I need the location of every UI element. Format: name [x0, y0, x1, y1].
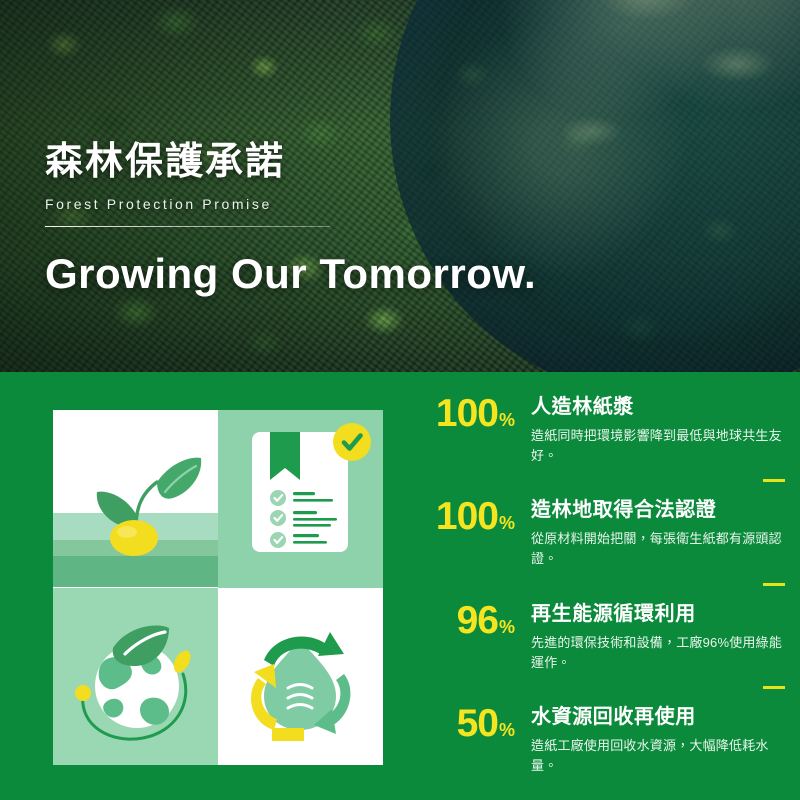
seedling-icon [53, 410, 218, 588]
stat-number-group: 100% [415, 392, 515, 433]
stat-unit: % [499, 617, 515, 637]
stat-description: 先進的環保技術和設備，工廠96%使用綠能運作。 [531, 633, 785, 673]
stat-row: 50% 水資源回收再使用 造紙工廠使用回收水資源，大幅降低耗水量。 [415, 702, 785, 776]
certificate-checklist-icon [218, 410, 383, 588]
stat-number-group: 50% [415, 702, 515, 743]
stat-description: 造紙工廠使用回收水資源，大幅降低耗水量。 [531, 736, 785, 776]
infographic-page: 森林保護承諾 Forest Protection Promise Growing… [0, 0, 800, 800]
stat-value: 100 [436, 392, 498, 435]
illustration-seedling [53, 410, 218, 588]
stat-row: 96% 再生能源循環利用 先進的環保技術和設備，工廠96%使用綠能運作。 [415, 599, 785, 673]
green-earth-icon [53, 588, 218, 766]
stat-row: 100% 造林地取得合法認證 從原材料開始把關，每張衛生紙都有源頭認證。 [415, 495, 785, 569]
stat-unit: % [499, 513, 515, 533]
stat-title: 水資源回收再使用 [531, 705, 785, 729]
stat-value: 100 [436, 495, 498, 538]
stat-separator [763, 686, 785, 689]
stat-text-group: 再生能源循環利用 先進的環保技術和設備，工廠96%使用綠能運作。 [515, 599, 785, 673]
stat-unit: % [499, 410, 515, 430]
water-recycle-icon [218, 588, 383, 766]
stat-separator [763, 479, 785, 482]
hero-headline: Growing Our Tomorrow. [45, 251, 536, 297]
hero-chinese-title: 森林保護承諾 [45, 140, 536, 185]
hero-english-subtitle: Forest Protection Promise [45, 196, 536, 212]
stat-text-group: 水資源回收再使用 造紙工廠使用回收水資源，大幅降低耗水量。 [515, 702, 785, 776]
stat-number-group: 96% [415, 599, 515, 640]
hero-banner: 森林保護承諾 Forest Protection Promise Growing… [0, 0, 800, 372]
green-content-panel: 100% 人造林紙漿 造紙同時把環境影響降到最低與地球共生友好。 100% 造林… [0, 372, 800, 800]
stats-list: 100% 人造林紙漿 造紙同時把環境影響降到最低與地球共生友好。 100% 造林… [415, 392, 785, 776]
stat-value: 96 [457, 599, 498, 642]
hero-text-block: 森林保護承諾 Forest Protection Promise Growing… [45, 140, 536, 297]
stat-title: 造林地取得合法認證 [531, 498, 785, 522]
stat-title: 再生能源循環利用 [531, 602, 785, 626]
stat-text-group: 造林地取得合法認證 從原材料開始把關，每張衛生紙都有源頭認證。 [515, 495, 785, 569]
hero-divider-rule [45, 226, 330, 227]
stat-description: 造紙同時把環境影響降到最低與地球共生友好。 [531, 426, 785, 466]
stat-row: 100% 人造林紙漿 造紙同時把環境影響降到最低與地球共生友好。 [415, 392, 785, 466]
stat-description: 從原材料開始把關，每張衛生紙都有源頭認證。 [531, 529, 785, 569]
stat-unit: % [499, 720, 515, 740]
illustration-certificate [218, 410, 383, 588]
illustration-green-earth [53, 588, 218, 766]
stat-value: 50 [457, 702, 498, 745]
stat-number-group: 100% [415, 495, 515, 536]
illustration-grid [53, 410, 383, 765]
stat-text-group: 人造林紙漿 造紙同時把環境影響降到最低與地球共生友好。 [515, 392, 785, 466]
stat-title: 人造林紙漿 [531, 395, 785, 419]
illustration-water-recycle [218, 588, 383, 766]
stat-separator [763, 583, 785, 586]
